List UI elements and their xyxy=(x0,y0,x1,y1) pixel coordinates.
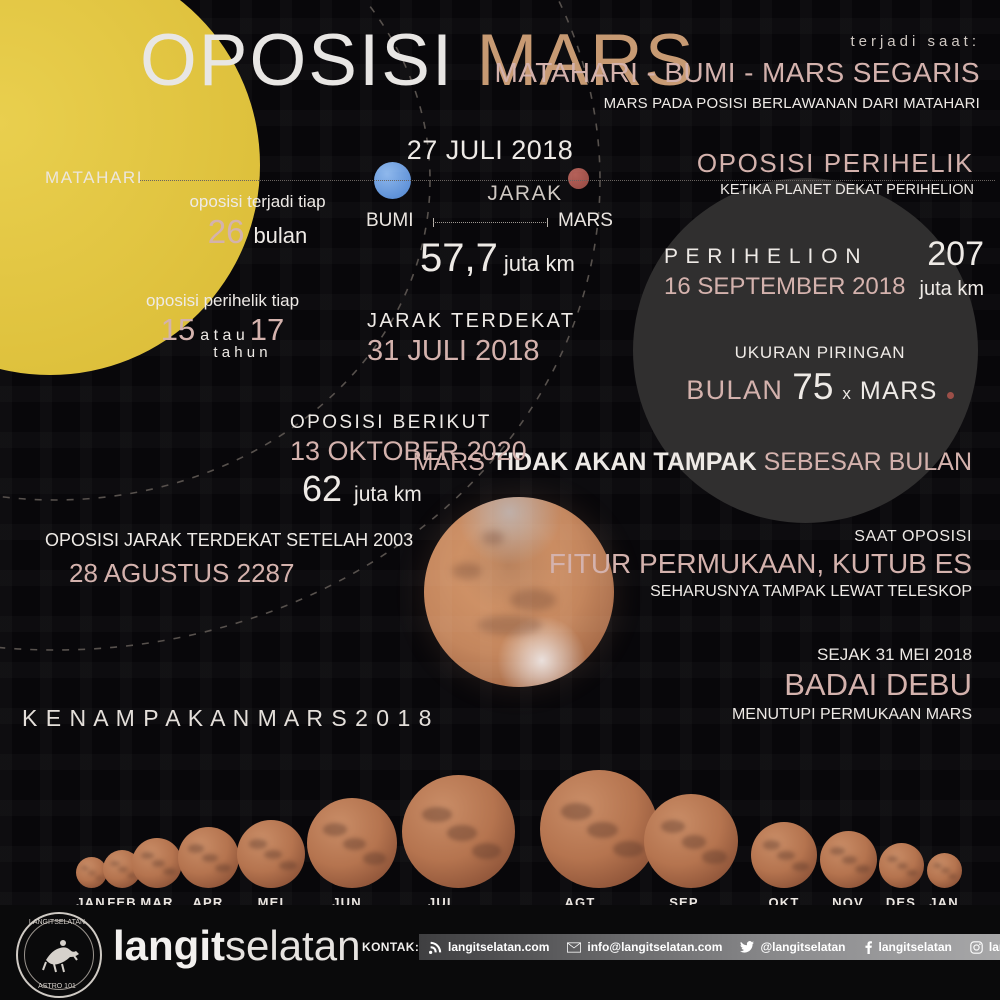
svg-text:ASTRO 101: ASTRO 101 xyxy=(38,983,76,990)
closest-label: JARAK TERDEKAT xyxy=(367,310,657,333)
perihelic-every-label: oposisi perihelik tiap xyxy=(130,291,315,311)
month-column: AGT xyxy=(540,770,620,910)
svg-text:LANGITSELATAN: LANGITSELATAN xyxy=(29,919,85,926)
jarak-label-wrap: JARAK xyxy=(400,182,650,206)
disk-factor: 75 xyxy=(792,366,833,408)
perihelic-every-value-1: 15 xyxy=(161,312,195,348)
month-column: JUL xyxy=(402,775,482,910)
opposition-every-value: 26 xyxy=(208,213,245,251)
mars-disc-sep xyxy=(644,794,738,888)
closest-after-2003-block: OPOSISI JARAK TERDEKAT SETELAH 2003 28 A… xyxy=(45,530,425,589)
not-as-big-post: SEBESAR BULAN xyxy=(757,448,972,476)
contact-item[interactable]: langitselatan xyxy=(864,940,952,954)
perihelic-every-unit: t a h u n xyxy=(130,344,315,361)
header-eyebrow: terjadi saat: xyxy=(460,33,980,50)
mars-disc-apr xyxy=(178,827,239,888)
header-headline: MATAHARI - BUMI - MARS SEGARIS xyxy=(460,57,980,89)
jarak-label: JARAK xyxy=(400,182,650,206)
surface-eyebrow: SAAT OPOSISI xyxy=(452,528,972,546)
surface-headline: FITUR PERMUKAAN, KUTUB ES xyxy=(452,548,972,580)
disk-times: x xyxy=(842,384,851,404)
distance-measure-bar xyxy=(433,218,548,227)
brand-bold: langit xyxy=(113,922,225,969)
next-opposition-label: OPOSISI BERIKUT xyxy=(290,412,590,434)
perihelic-every-block: oposisi perihelik tiap 15 a t a u 17 t a… xyxy=(130,291,315,361)
closest-after-2003-date: 28 AGUSTUS 2287 xyxy=(45,558,425,589)
earth-label: BUMI xyxy=(366,210,414,232)
next-opposition-value: 62 xyxy=(302,468,342,510)
sun-label: MATAHARI xyxy=(45,168,143,188)
header-right: terjadi saat: MATAHARI - BUMI - MARS SEG… xyxy=(460,33,980,112)
contact-item[interactable]: langitselatanmedia xyxy=(970,940,1000,954)
dust-storm-block: SEJAK 31 MEI 2018 BADAI DEBU MENUTUPI PE… xyxy=(492,645,972,724)
appearance-title: K E N A M P A K A N M A R S 2 0 1 8 xyxy=(22,705,432,732)
month-column: SEP xyxy=(644,794,724,910)
contact-text: langitselatan xyxy=(879,940,952,954)
mars-size-chart: JANFEBMARAPRMEIJUNJULAGTSEPOKTNOVDESJAN xyxy=(0,760,1000,910)
brand-light: selatan xyxy=(225,922,360,969)
mars-disc-mei xyxy=(237,820,305,888)
perihelion-date: 16 SEPTEMBER 2018 xyxy=(664,273,905,301)
perihelion-label: P E R I H E L I O N xyxy=(664,245,862,269)
opposition-every-label: oposisi terjadi tiap xyxy=(170,192,345,212)
mars-disc-jul xyxy=(402,775,515,888)
opposition-distance-unit: juta km xyxy=(504,251,575,277)
contact-bar: langitselatan.cominfo@langitselatan.com@… xyxy=(419,934,1000,960)
perihelic-every-conjunction: a t a u xyxy=(200,327,244,345)
next-opposition-block: OPOSISI BERIKUT 13 OKTOBER 2020 62 juta … xyxy=(290,412,590,510)
mail-icon xyxy=(567,942,581,953)
month-column: JUN xyxy=(307,798,387,910)
logo-horse-icon: LANGITSELATAN ASTRO 101 xyxy=(16,912,98,994)
month-column: MEI xyxy=(231,820,311,910)
opposition-date-label: 27 JULI 2018 xyxy=(370,135,610,166)
contact-text: @langitselatan xyxy=(760,940,845,954)
perihelic-every-value-2: 17 xyxy=(250,312,284,348)
infographic-poster: MATAHARI OPOSISI MARS terjadi saat: MATA… xyxy=(0,0,1000,1000)
dust-sub: MENUTUPI PERMUKAAN MARS xyxy=(492,706,972,724)
facebook-icon xyxy=(864,941,873,954)
opposition-every-unit: bulan xyxy=(253,223,307,249)
surface-sub: SEHARUSNYA TAMPAK LEWAT TELESKOP xyxy=(452,583,972,601)
next-opposition-unit: juta km xyxy=(354,483,422,507)
contact-text: info@langitselatan.com xyxy=(587,940,722,954)
contact-text: langitselatan.com xyxy=(448,940,549,954)
disk-size-label: UKURAN PIRINGAN xyxy=(660,343,980,363)
opposition-distance-value: 57,7 xyxy=(420,236,498,281)
instagram-icon xyxy=(970,941,983,954)
opposition-every-block: oposisi terjadi tiap 26 bulan xyxy=(170,192,345,251)
contact-item[interactable]: @langitselatan xyxy=(740,940,845,954)
disk-moon-label: BULAN xyxy=(686,375,783,406)
contact-text: langitselatanmedia xyxy=(989,940,1000,954)
dust-headline: BADAI DEBU xyxy=(492,667,972,703)
surface-features-block: SAAT OPOSISI FITUR PERMUKAAN, KUTUB ES S… xyxy=(452,528,972,601)
disk-mars-label: MARS xyxy=(860,377,938,406)
closest-after-2003-label: OPOSISI JARAK TERDEKAT SETELAH 2003 xyxy=(45,530,425,551)
mars-disc-jun xyxy=(307,798,397,888)
brand-wordmark: langitselatan xyxy=(113,925,360,967)
perihelion-block: P E R I H E L I O N 207 16 SEPTEMBER 201… xyxy=(664,240,984,301)
contact-item[interactable]: info@langitselatan.com xyxy=(567,940,722,954)
twitter-icon xyxy=(740,941,754,953)
mars-disc-jan xyxy=(927,853,962,888)
header-sub: MARS PADA POSISI BERLAWANAN DARI MATAHAR… xyxy=(460,95,980,112)
langitselatan-logo: LANGITSELATAN ASTRO 101 xyxy=(16,912,102,998)
perihelion-unit: juta km xyxy=(920,278,984,301)
mars-tiny-dot xyxy=(947,392,954,399)
month-column: JAN xyxy=(904,853,984,910)
contact-item[interactable]: langitselatan.com xyxy=(429,940,549,954)
opposition-distance-wrap: 57,7 juta km xyxy=(420,236,660,281)
rss-icon xyxy=(429,941,442,954)
title-part-1: OPOSISI xyxy=(140,20,454,101)
next-opposition-date: 13 OKTOBER 2020 xyxy=(290,436,590,467)
closest-approach-block: JARAK TERDEKAT 31 JULI 2018 xyxy=(367,310,657,368)
disk-size-block: UKURAN PIRINGAN BULAN 75 x MARS xyxy=(660,343,980,408)
mars-label: MARS xyxy=(558,210,613,232)
perihelion-value: 207 xyxy=(927,240,984,269)
closest-date: 31 JULI 2018 xyxy=(367,335,657,368)
kontak-label: KONTAK: xyxy=(362,940,419,954)
opposition-date-block: 27 JULI 2018 xyxy=(370,135,610,166)
mars-disc-agt xyxy=(540,770,658,888)
dust-eyebrow: SEJAK 31 MEI 2018 xyxy=(492,645,972,665)
